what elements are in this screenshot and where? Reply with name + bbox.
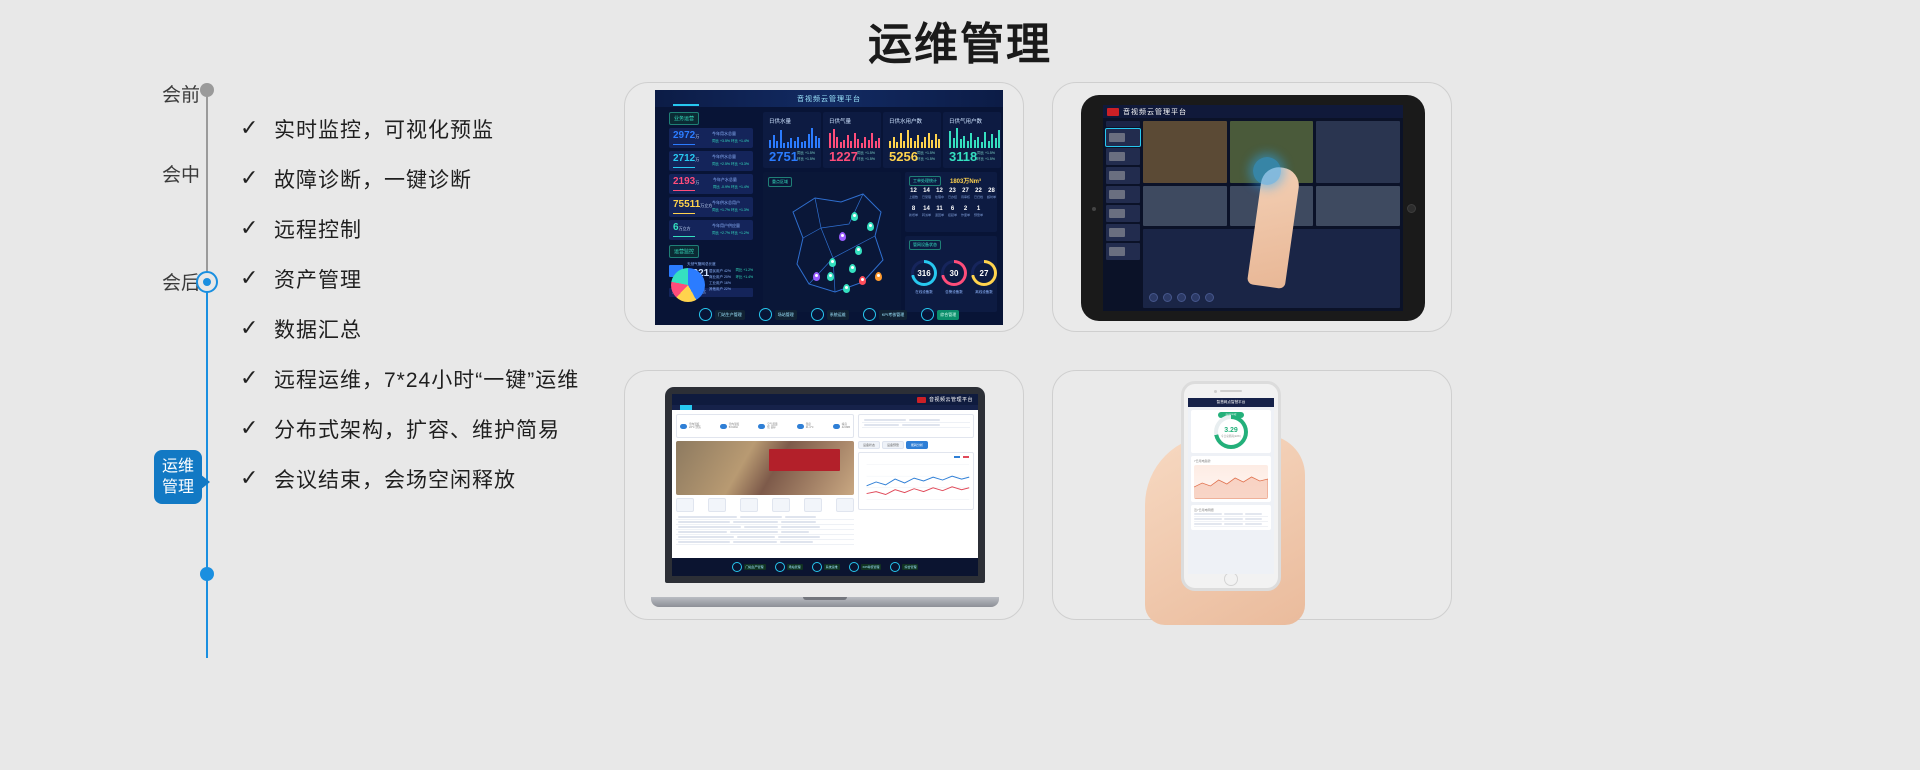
calendar-cell-label: 已办结 — [948, 195, 957, 199]
kpi-card: 2193万今年产水总量同比 -0.9% 环比 +1.4% — [669, 174, 753, 194]
calendar-cell: 11退回单 — [935, 206, 944, 217]
factory-delta-2: 环比 +1.4% — [736, 274, 753, 279]
laptop-footer-button[interactable]: 门站生产管理 — [732, 562, 766, 572]
laptop-footer-button-label: 场站管理 — [787, 564, 803, 570]
check-icon: ✓ — [240, 468, 274, 490]
tablet-venue-thumb[interactable] — [1106, 224, 1140, 241]
laptop-content: 室内温度22℃ 舒适室内湿度51%RH空气质量优 良好温度21.4℃噪音42.8… — [672, 410, 978, 549]
calendar-cell-number: 12 — [935, 188, 944, 195]
tablet-video-tile[interactable] — [1143, 186, 1227, 226]
calendar-cell-number: 28 — [987, 188, 996, 195]
kpi-delta: 同比 +3.5% 环比 +1.4% — [712, 139, 749, 144]
ring-icon — [921, 308, 934, 321]
weather-item: 室内湿度51%RH — [720, 423, 739, 430]
weather-value: 优 良好 — [767, 426, 776, 429]
laptop-weather-card: 室内温度22℃ 舒适室内湿度51%RH空气质量优 良好温度21.4℃噪音42.8… — [676, 414, 854, 438]
feature-item-label: 资产管理 — [274, 264, 362, 294]
gauge-label: 告警设备数 — [941, 290, 967, 295]
tablet-device: 音视频云管理平台 — [1081, 95, 1425, 321]
calendar-tag: 工单处理统计 — [909, 176, 941, 186]
tablet-video-tile[interactable] — [1143, 121, 1227, 183]
phone-chart-card: 7日用电趋势 — [1191, 456, 1271, 502]
calendar-cell-label: 处理中 — [935, 195, 944, 199]
phone-gauge: 3.29 今日总能耗(kWh) — [1214, 415, 1248, 449]
phone-area-chart — [1194, 465, 1268, 499]
calendar-cell-label: 转派单 — [922, 213, 931, 217]
legend-entry — [954, 456, 960, 458]
laptop-footer-button[interactable]: 场站管理 — [775, 562, 803, 572]
tablet-knob-row — [1149, 293, 1394, 302]
check-icon: ✓ — [240, 168, 274, 190]
phone-camera-icon — [1214, 390, 1217, 393]
phone-chart-title: 7日用电趋势 — [1194, 459, 1268, 463]
calendar-cell-label: 作废单 — [961, 213, 970, 217]
tablet-camera-icon — [1092, 207, 1096, 211]
kpi-unit: 万 — [695, 157, 699, 162]
calendar-cell-number: 14 — [922, 188, 931, 195]
phone-gauge-value: 3.29 — [1224, 427, 1238, 434]
check-icon: ✓ — [240, 218, 274, 240]
dashboard-secondary-tag: 运营监控 — [669, 245, 699, 258]
kpi-name: 今年供水总量 — [712, 154, 749, 160]
calendar-cell-label: 挂起单 — [948, 213, 957, 217]
tablet-knob[interactable] — [1191, 293, 1200, 302]
card-phone: 智慧网点智慧平台 商场温度 3.29 今日总能耗(kWh) 7日用电趋势 — [1052, 370, 1452, 620]
chart-delta-1: 同比 +1.5% — [797, 151, 815, 155]
cloud-icon — [797, 424, 804, 429]
tablet-knob[interactable] — [1177, 293, 1186, 302]
chart-title: 日供气量 — [829, 117, 851, 125]
ring-icon — [699, 308, 712, 321]
calendar-cell-label: 超时单 — [987, 195, 996, 199]
gauge: 316在线设备数 — [911, 260, 937, 286]
feature-item: ✓实时监控，可视化预监 — [240, 104, 640, 154]
weather-item: 噪音42.8dB — [833, 423, 850, 430]
tablet-video-tile[interactable] — [1316, 121, 1400, 183]
phone-table-card: 近7日用电明细 — [1191, 505, 1271, 530]
calendar-cell-number: 12 — [909, 188, 918, 195]
feature-item-label: 分布式架构，扩容、维护简易 — [274, 414, 560, 444]
tablet-knob[interactable] — [1205, 293, 1214, 302]
chart-title: 日供水用户数 — [889, 117, 922, 125]
kpi-card: 6万立方今年用户供应量同比 +2.7% 环比 +1.2% — [669, 220, 753, 240]
calendar-total: 1803万Nm³ — [950, 176, 981, 185]
line-chart-svg — [859, 453, 973, 509]
chart-value: 1227 — [829, 150, 858, 163]
laptop-tool-icon[interactable] — [836, 498, 854, 512]
laptop-chart-legend — [954, 456, 969, 458]
phone-title: 智慧网点智慧平台 — [1188, 398, 1274, 407]
timeline-stage-label-during: 会中 — [162, 160, 200, 187]
weather-value: 21.4℃ — [806, 426, 814, 429]
kpi-card: 2712万今年供水总量同比 +2.5% 环比 +3.3% — [669, 151, 753, 171]
dashboard-kpi-list: 2972万今年用水总量同比 +3.5% 环比 +1.4%2712万今年供水总量同… — [669, 128, 753, 240]
ring-icon — [775, 562, 785, 572]
cloud-icon — [833, 424, 840, 429]
chart-delta-2: 环比 +1.5% — [797, 157, 815, 161]
gauge-value: 316 — [911, 260, 937, 286]
check-icon: ✓ — [240, 368, 274, 390]
ring-icon — [863, 308, 876, 321]
laptop-tab[interactable]: 设备状态 — [858, 441, 880, 449]
dashboard-footer-button-label: KPI考核管理 — [879, 310, 907, 320]
calendar-cell-number: 27 — [961, 188, 970, 195]
dashboard-footer-button[interactable]: 综合管理 — [921, 308, 959, 321]
tablet-video-tile[interactable] — [1316, 186, 1400, 226]
chart-title: 日供水量 — [769, 117, 791, 125]
kpi-name: 今年用水总量 — [712, 131, 749, 137]
laptop-tool-icon[interactable] — [708, 498, 726, 512]
dashboard-footer-button[interactable]: KPI考核管理 — [863, 308, 907, 321]
timeline-dot-post-active[interactable] — [196, 271, 218, 293]
donut-chart — [671, 268, 705, 302]
kpi-name: 今年用户供应量 — [712, 223, 749, 229]
dashboard-title: 音视频云管理平台 — [655, 94, 1003, 104]
tablet-venue-thumb[interactable] — [1106, 243, 1140, 260]
feature-item: ✓分布式架构，扩容、维护简易 — [240, 404, 640, 454]
kpi-delta: 同比 +2.5% 环比 +3.3% — [712, 162, 749, 167]
feature-item: ✓会议结束，会场空闲释放 — [240, 454, 640, 504]
calendar-row-1: 12上报数14已受理12处理中23已办结27待审核22已归档28超时单 — [909, 188, 996, 199]
tablet-title: 音视频云管理平台 — [1123, 107, 1187, 117]
table-row — [862, 423, 970, 428]
calendar-cell-number: 1 — [974, 206, 983, 213]
weather-value: 22℃ 舒适 — [689, 426, 701, 429]
weather-value: 42.8dB — [842, 426, 850, 429]
laptop-tab[interactable]: 设备预警 — [882, 441, 904, 449]
kpi-name: 今年产水总量 — [713, 177, 749, 183]
kpi-delta: 同比 +1.7% 环比 +1.3% — [712, 208, 749, 213]
laptop-footer-button-label: 系统运维 — [824, 564, 840, 570]
laptop-lid: 音视频云管理平台 室内温度22℃ 舒适室内湿度51%RH空气质量优 良好温度21… — [665, 387, 985, 583]
weather-item: 室内温度22℃ 舒适 — [680, 423, 701, 430]
laptop-tool-icon[interactable] — [804, 498, 822, 512]
calendar-cell-label: 待审核 — [961, 195, 970, 199]
weather-item: 空气质量优 良好 — [758, 423, 777, 430]
tablet-venue-thumb[interactable] — [1106, 186, 1140, 203]
tablet-venue-rail — [1106, 121, 1140, 308]
kpi-bar-chart: 日供水量2751同比 +1.5%环比 +1.5% — [763, 112, 821, 168]
tablet-screen: 音视频云管理平台 — [1103, 105, 1403, 311]
kpi-value: 2193 — [673, 176, 695, 187]
map-outline-icon — [763, 172, 901, 312]
laptop-header: 音视频云管理平台 — [672, 394, 978, 405]
kpi-bar-chart: 日供气量1227同比 +1.5%环比 +1.5% — [823, 112, 881, 168]
laptop-footer-button-label: KPI考核管理 — [861, 564, 882, 570]
chart-bars — [889, 126, 940, 148]
calendar-cell: 22已归档 — [974, 188, 983, 199]
calendar-cell-number: 2 — [961, 206, 970, 213]
laptop-tool-icon[interactable] — [740, 498, 758, 512]
dashboard-footer-button-label: 综合管理 — [937, 310, 959, 320]
brand-logo-icon — [917, 397, 926, 403]
factory-delta-1: 同比 +1.2% — [736, 267, 753, 272]
laptop-base — [651, 597, 999, 607]
dashboard-footer-button[interactable]: 门站生产管理 — [699, 308, 745, 321]
phone-device: 智慧网点智慧平台 商场温度 3.29 今日总能耗(kWh) 7日用电趋势 — [1181, 381, 1281, 591]
laptop-icon-row — [676, 498, 854, 512]
calendar-cell-label: 已归档 — [974, 195, 983, 199]
donut-legend: 居民用户 42%商业用户 20%工业用户 16%其他用户 22% — [709, 268, 731, 292]
gauge: 30告警设备数 — [941, 260, 967, 286]
calendar-cell-number: 23 — [948, 188, 957, 195]
dashboard-footer-button[interactable]: 场站管理 — [759, 308, 797, 321]
calendar-row-2: 8新增单14转派单11退回单6挂起单2作废单1预警单 — [909, 206, 983, 217]
calendar-cell-number: 6 — [948, 206, 957, 213]
tablet-venue-thumb[interactable] — [1106, 205, 1140, 222]
laptop-data-table — [676, 515, 854, 545]
gauge-label: 离线设备数 — [971, 290, 997, 295]
feature-item-label: 远程控制 — [274, 214, 362, 244]
chart-delta-2: 环比 +1.5% — [977, 157, 995, 161]
kpi-name: 今年供水总用户 — [712, 200, 749, 206]
check-icon: ✓ — [240, 268, 274, 290]
laptop-line-chart — [858, 452, 974, 510]
phone-home-button[interactable] — [1224, 572, 1238, 586]
calendar-cell: 12上报数 — [909, 188, 918, 199]
feature-list: ✓实时监控，可视化预监✓故障诊断，一键诊断✓远程控制✓资产管理✓数据汇总✓远程运… — [240, 104, 640, 504]
tablet-venue-thumb[interactable] — [1106, 148, 1140, 165]
laptop-left-column: 室内温度22℃ 舒适室内湿度51%RH空气质量优 良好温度21.4℃噪音42.8… — [676, 414, 854, 545]
tablet-header: 音视频云管理平台 — [1103, 105, 1403, 118]
feature-item-label: 故障诊断，一键诊断 — [274, 164, 472, 194]
kpi-delta: 同比 +2.7% 环比 +1.2% — [712, 231, 749, 236]
calendar-cell-number: 11 — [935, 206, 944, 213]
laptop-device: 音视频云管理平台 室内温度22℃ 舒适室内湿度51%RH空气质量优 良好温度21… — [665, 387, 985, 605]
ring-icon — [732, 562, 742, 572]
weather-value: 51%RH — [729, 426, 738, 429]
phone-table-rows — [1194, 512, 1268, 527]
phone-screen: 智慧网点智慧平台 商场温度 3.29 今日总能耗(kWh) 7日用电趋势 — [1188, 398, 1274, 574]
feature-item-label: 远程运维，7*24小时“一键”运维 — [274, 364, 579, 394]
feature-item: ✓资产管理 — [240, 254, 640, 304]
calendar-cell-label: 新增单 — [909, 213, 918, 217]
calendar-cell-number: 8 — [909, 206, 918, 213]
dashboard-kpi-tag: 业务运营 — [669, 112, 699, 125]
laptop-tab[interactable]: 能耗分析 — [906, 441, 928, 449]
calendar-cell: 2作废单 — [961, 206, 970, 217]
chart-delta-1: 同比 +1.5% — [977, 151, 995, 155]
tablet-venue-thumb[interactable] — [1106, 129, 1140, 146]
chart-value: 5256 — [889, 150, 918, 163]
laptop-weather-row: 室内温度22℃ 舒适室内湿度51%RH空气质量优 良好温度21.4℃噪音42.8… — [680, 418, 850, 434]
timeline-line-gray — [206, 88, 208, 288]
laptop-room-photo — [676, 441, 854, 495]
ring-icon — [759, 308, 772, 321]
dashboard-footer-button[interactable]: 系统运维 — [811, 308, 849, 321]
kpi-card: 2972万今年用水总量同比 +3.5% 环比 +1.4% — [669, 128, 753, 148]
calendar-cell-number: 14 — [922, 206, 931, 213]
ring-icon — [811, 308, 824, 321]
factory-name: 天然气管网总长度 — [687, 262, 716, 267]
chart-bars — [949, 126, 1000, 148]
ring-icon — [849, 562, 859, 572]
laptop-tool-icon[interactable] — [772, 498, 790, 512]
calendar-cell-label: 上报数 — [909, 195, 918, 199]
laptop-footer-button[interactable]: KPI考核管理 — [849, 562, 882, 572]
ring-icon — [890, 562, 900, 572]
laptop-summary-card — [858, 414, 974, 438]
feature-item-label: 数据汇总 — [274, 314, 362, 344]
tablet-knob[interactable] — [1149, 293, 1158, 302]
timeline-line-blue — [206, 280, 208, 658]
phone-gauge-unit: 今日总能耗(kWh) — [1221, 434, 1241, 438]
feature-item: ✓故障诊断，一键诊断 — [240, 154, 640, 204]
calendar-cell: 12处理中 — [935, 188, 944, 199]
laptop-footer-button[interactable]: 系统运维 — [812, 562, 840, 572]
laptop-footer-button[interactable]: 综合管理 — [890, 562, 918, 572]
dashboard-footer-button-label: 场站管理 — [775, 310, 797, 320]
laptop-title: 音视频云管理平台 — [929, 396, 973, 403]
laptop-footer-buttons: 门站生产管理场站管理系统运维KPI考核管理综合管理 — [672, 558, 978, 576]
timeline-stage-label-pre: 会前 — [162, 80, 200, 107]
kpi-delta: 同比 -0.9% 环比 +1.4% — [713, 185, 749, 190]
feature-item: ✓远程控制 — [240, 204, 640, 254]
ring-icon — [812, 562, 822, 572]
calendar-cell: 27待审核 — [961, 188, 970, 199]
kpi-unit: 万 — [695, 180, 699, 185]
brand-logo-icon — [1107, 108, 1119, 116]
laptop-footer-button-label: 门站生产管理 — [744, 564, 766, 570]
dashboard-footer-button-label: 门站生产管理 — [715, 310, 745, 320]
chart-bars — [769, 126, 820, 148]
cloud-icon — [680, 424, 687, 429]
kpi-value: 2712 — [673, 153, 695, 164]
feature-item: ✓数据汇总 — [240, 304, 640, 354]
legend-entry — [963, 456, 969, 458]
kpi-bar-chart: 日供水用户数5256同比 +1.5%环比 +1.5% — [883, 112, 941, 168]
timeline-dot-end — [200, 567, 214, 581]
kpi-unit: 万 — [695, 134, 699, 139]
calendar-cell-number: 22 — [974, 188, 983, 195]
chart-title: 日供气用户数 — [949, 117, 982, 125]
gauge: 27离线设备数 — [971, 260, 997, 286]
calendar-cell: 6挂起单 — [948, 206, 957, 217]
check-icon: ✓ — [240, 118, 274, 140]
laptop-footer-button-label: 综合管理 — [902, 564, 918, 570]
area-chart-svg — [1194, 465, 1268, 499]
timeline: 会前 会中 会后 — [196, 80, 226, 590]
calendar-cell-label: 预警单 — [974, 213, 983, 217]
chart-delta-2: 环比 +1.5% — [857, 157, 875, 161]
tablet-knob[interactable] — [1163, 293, 1172, 302]
calendar-cell: 23已办结 — [948, 188, 957, 199]
dashboard-header: 音视频云管理平台 — [655, 90, 1003, 107]
calendar-cell-label: 已受理 — [922, 195, 931, 199]
dashboard-gauges: 管网设备状态 316在线设备数30告警设备数27离线设备数 — [905, 236, 997, 312]
kpi-value: 2972 — [673, 130, 695, 141]
dashboard-footer-buttons: 门站生产管理场站管理系统运维KPI考核管理综合管理 — [655, 308, 1003, 321]
stage-badge-line2: 管理 — [156, 477, 200, 498]
gauge-label: 在线设备数 — [911, 290, 937, 295]
gauge-value: 30 — [941, 260, 967, 286]
card-dashboard: 音视频云管理平台 业务运营 2972万今年用水总量同比 +3.5% 环比 +1.… — [624, 82, 1024, 332]
chart-delta-1: 同比 +1.5% — [857, 151, 875, 155]
dashboard-calendar: 工单处理统计 1803万Nm³ 12上报数14已受理12处理中23已办结27待审… — [905, 172, 997, 232]
chart-delta-1: 同比 +1.5% — [917, 151, 935, 155]
dashboard-screen: 音视频云管理平台 业务运营 2972万今年用水总量同比 +3.5% 环比 +1.… — [655, 90, 1003, 325]
timeline-dot-pre[interactable] — [200, 83, 214, 97]
calendar-cell: 28超时单 — [987, 188, 996, 199]
phone-speaker-icon — [1220, 390, 1242, 392]
calendar-cell: 14已受理 — [922, 188, 931, 199]
stage-badge-line1: 运维 — [156, 456, 200, 477]
calendar-cell: 8新增单 — [909, 206, 918, 217]
feature-item: ✓远程运维，7*24小时“一键”运维 — [240, 354, 640, 404]
kpi-bar-chart: 日供气用户数3118同比 +1.5%环比 +1.5% — [943, 112, 1001, 168]
feature-item-label: 会议结束，会场空闲释放 — [274, 464, 516, 494]
chart-value: 3118 — [949, 150, 977, 163]
kpi-value: 75511 — [673, 199, 700, 210]
calendar-cell: 1预警单 — [974, 206, 983, 217]
timeline-stage-label-post: 会后 — [162, 268, 200, 295]
chart-delta-2: 环比 +1.5% — [917, 157, 935, 161]
feature-item-label: 实时监控，可视化预监 — [274, 114, 494, 144]
dashboard-header-accent — [673, 104, 699, 106]
cloud-icon — [758, 424, 765, 429]
table-row[interactable] — [676, 540, 854, 545]
calendar-cell: 14转派单 — [922, 206, 931, 217]
laptop-screen: 音视频云管理平台 室内温度22℃ 舒适室内湿度51%RH空气质量优 良好温度21… — [672, 394, 978, 576]
laptop-tool-icon[interactable] — [676, 498, 694, 512]
laptop-right-column: 设备状态设备预警能耗分析 — [858, 414, 974, 545]
table-row — [1194, 522, 1268, 527]
card-laptop: 音视频云管理平台 室内温度22℃ 舒适室内湿度51%RH空气质量优 良好温度21… — [624, 370, 1024, 620]
dashboard-map[interactable]: 重点区域 — [763, 172, 901, 312]
phone-gauge-card: 商场温度 3.29 今日总能耗(kWh) — [1191, 410, 1271, 453]
weather-item: 温度21.4℃ — [797, 423, 814, 430]
dashboard-footer-button-label: 系统运维 — [827, 310, 849, 320]
page-title: 运维管理 — [0, 8, 1920, 72]
kpi-unit: 万立方 — [679, 226, 691, 231]
gauges-tag: 管网设备状态 — [909, 240, 941, 250]
touch-ripple-icon — [1253, 157, 1281, 185]
tablet-home-button[interactable] — [1407, 204, 1416, 213]
gauge-value: 27 — [971, 260, 997, 286]
tablet-search-input[interactable] — [1106, 121, 1140, 127]
cloud-icon — [720, 424, 727, 429]
chart-bars — [829, 126, 880, 148]
chart-value: 2751 — [769, 150, 798, 163]
check-icon: ✓ — [240, 318, 274, 340]
stage-badge-ops-management[interactable]: 运维 管理 — [154, 450, 202, 504]
calendar-cell-label: 退回单 — [935, 213, 944, 217]
kpi-card: 75511万立方今年供水总用户同比 +1.7% 环比 +1.3% — [669, 197, 753, 217]
card-tablet: 音视频云管理平台 — [1052, 82, 1452, 332]
tablet-venue-thumb[interactable] — [1106, 167, 1140, 184]
kpi-unit: 万立方 — [700, 203, 712, 208]
check-icon: ✓ — [240, 418, 274, 440]
laptop-tabs: 设备状态设备预警能耗分析 — [858, 441, 974, 449]
